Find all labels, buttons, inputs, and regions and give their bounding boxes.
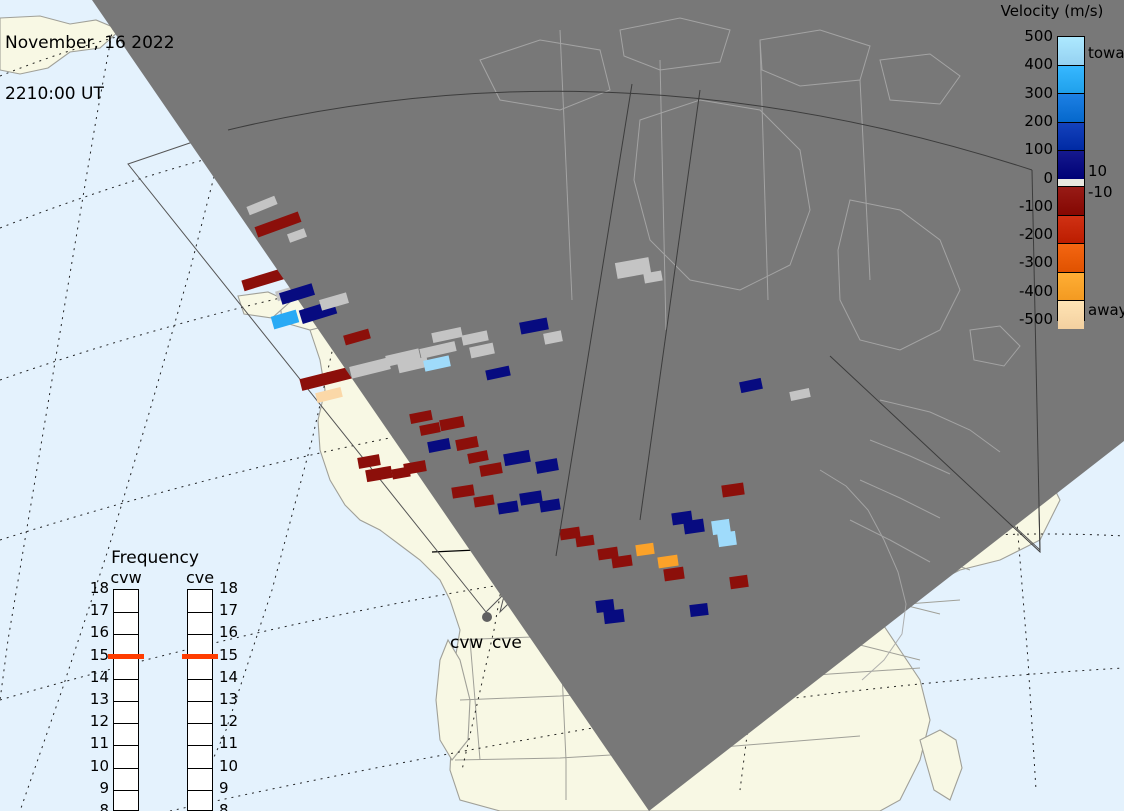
frequency-bar-cvw bbox=[113, 589, 139, 811]
colorbar-band bbox=[1058, 300, 1084, 329]
frequency-marker-cvw bbox=[108, 654, 144, 659]
colorbar-band bbox=[1058, 93, 1084, 122]
frequency-scale-label-right: 13 bbox=[219, 692, 243, 707]
frequency-scale-label-left: 18 bbox=[85, 581, 109, 596]
frequency-scale-label-left: 8 bbox=[85, 803, 109, 811]
frequency-scale-label-left: 9 bbox=[85, 781, 109, 796]
velocity-cell bbox=[603, 609, 624, 624]
colorbar-band bbox=[1058, 186, 1084, 215]
colorbar-ticks: 5004003002001000-100-200-300-400-500 bbox=[975, 28, 1053, 328]
colorbar-band bbox=[1058, 65, 1084, 94]
frequency-divider bbox=[114, 679, 138, 680]
velocity-cell bbox=[729, 575, 748, 589]
colorbar-tick-label: 500 bbox=[975, 29, 1053, 44]
colorbar-title: Velocity (m/s) bbox=[980, 2, 1124, 20]
frequency-divider bbox=[114, 768, 138, 769]
frequency-divider bbox=[188, 768, 212, 769]
colorbar-band bbox=[1058, 272, 1084, 301]
frequency-scale-label-left: 10 bbox=[85, 759, 109, 774]
frequency-divider bbox=[188, 790, 212, 791]
frequency-scale-label-left: 17 bbox=[85, 603, 109, 618]
colorbar-band bbox=[1058, 150, 1084, 179]
radar-site-marker bbox=[482, 612, 492, 622]
frequency-divider bbox=[188, 612, 212, 613]
colorbar-tick-label: -300 bbox=[975, 255, 1053, 270]
colorbar-band bbox=[1058, 243, 1084, 272]
timestamp-time: 2210:00 UT bbox=[5, 86, 175, 103]
frequency-legend-title: Frequency bbox=[85, 548, 225, 568]
frequency-scale-label-left: 11 bbox=[85, 736, 109, 751]
velocity-cell bbox=[689, 603, 708, 617]
frequency-divider bbox=[114, 790, 138, 791]
frequency-divider bbox=[114, 634, 138, 635]
site-label-cve: cve bbox=[492, 633, 522, 653]
frequency-divider bbox=[188, 634, 212, 635]
timestamp: November, 16 2022 2210:00 UT bbox=[5, 1, 175, 137]
frequency-scale-label-right: 8 bbox=[219, 803, 243, 811]
velocity-cell bbox=[683, 519, 705, 535]
frequency-scale-label-right: 11 bbox=[219, 736, 243, 751]
colorbar-band bbox=[1058, 215, 1084, 244]
frequency-scale-label-right: 17 bbox=[219, 603, 243, 618]
colorbar-near-zero-negative: -10 bbox=[1088, 185, 1113, 200]
frequency-divider bbox=[188, 679, 212, 680]
frequency-divider bbox=[114, 745, 138, 746]
colorbar-band bbox=[1058, 122, 1084, 151]
colorbar-tick-label: 0 bbox=[975, 171, 1053, 186]
superdarn-velocity-map: November, 16 2022 2210:00 UT cvw cve Vel… bbox=[0, 0, 1124, 811]
frequency-scale-label-right: 15 bbox=[219, 648, 243, 663]
timestamp-date: November, 16 2022 bbox=[5, 35, 175, 52]
colorbar-band bbox=[1058, 179, 1084, 186]
colorbar-toward-label: toward bbox=[1088, 46, 1124, 61]
frequency-divider bbox=[114, 701, 138, 702]
frequency-divider bbox=[188, 745, 212, 746]
frequency-scale-label-left: 15 bbox=[85, 648, 109, 663]
colorbar-away-label: away bbox=[1088, 303, 1124, 318]
frequency-scale-label-left: 13 bbox=[85, 692, 109, 707]
frequency-scale-label-right: 9 bbox=[219, 781, 243, 796]
frequency-divider bbox=[114, 612, 138, 613]
colorbar-near-zero-positive: 10 bbox=[1088, 164, 1107, 179]
frequency-scale-label-right: 10 bbox=[219, 759, 243, 774]
frequency-divider bbox=[188, 723, 212, 724]
colorbar-tick-label: -500 bbox=[975, 312, 1053, 327]
frequency-scale-label-right: 16 bbox=[219, 625, 243, 640]
frequency-scale-label-right: 14 bbox=[219, 670, 243, 685]
velocity-cell bbox=[717, 531, 737, 547]
site-label-cvw: cvw bbox=[450, 633, 483, 653]
frequency-column-label-cve: cve bbox=[175, 568, 225, 587]
colorbar-tick-label: -400 bbox=[975, 284, 1053, 299]
colorbar-tick-label: 200 bbox=[975, 114, 1053, 129]
frequency-scale-label-left: 16 bbox=[85, 625, 109, 640]
frequency-marker-cve bbox=[182, 654, 218, 659]
frequency-scale-label-right: 12 bbox=[219, 714, 243, 729]
velocity-colorbar: Velocity (m/s) 5004003002001000-100-200-… bbox=[975, 0, 1124, 340]
frequency-scale-label-left: 14 bbox=[85, 670, 109, 685]
colorbar-tick-label: -200 bbox=[975, 227, 1053, 242]
frequency-divider bbox=[114, 723, 138, 724]
colorbar-band bbox=[1058, 37, 1084, 65]
frequency-legend: Frequency cvw cve 1818171716161515141413… bbox=[85, 545, 255, 795]
frequency-scale-label-left: 12 bbox=[85, 714, 109, 729]
colorbar-tick-label: 300 bbox=[975, 86, 1053, 101]
frequency-divider bbox=[188, 701, 212, 702]
colorbar-tick-label: 400 bbox=[975, 57, 1053, 72]
frequency-scale-label-right: 18 bbox=[219, 581, 243, 596]
colorbar-gradient bbox=[1057, 36, 1085, 321]
colorbar-tick-label: -100 bbox=[975, 199, 1053, 214]
frequency-bar-cve bbox=[187, 589, 213, 811]
colorbar-tick-label: 100 bbox=[975, 142, 1053, 157]
